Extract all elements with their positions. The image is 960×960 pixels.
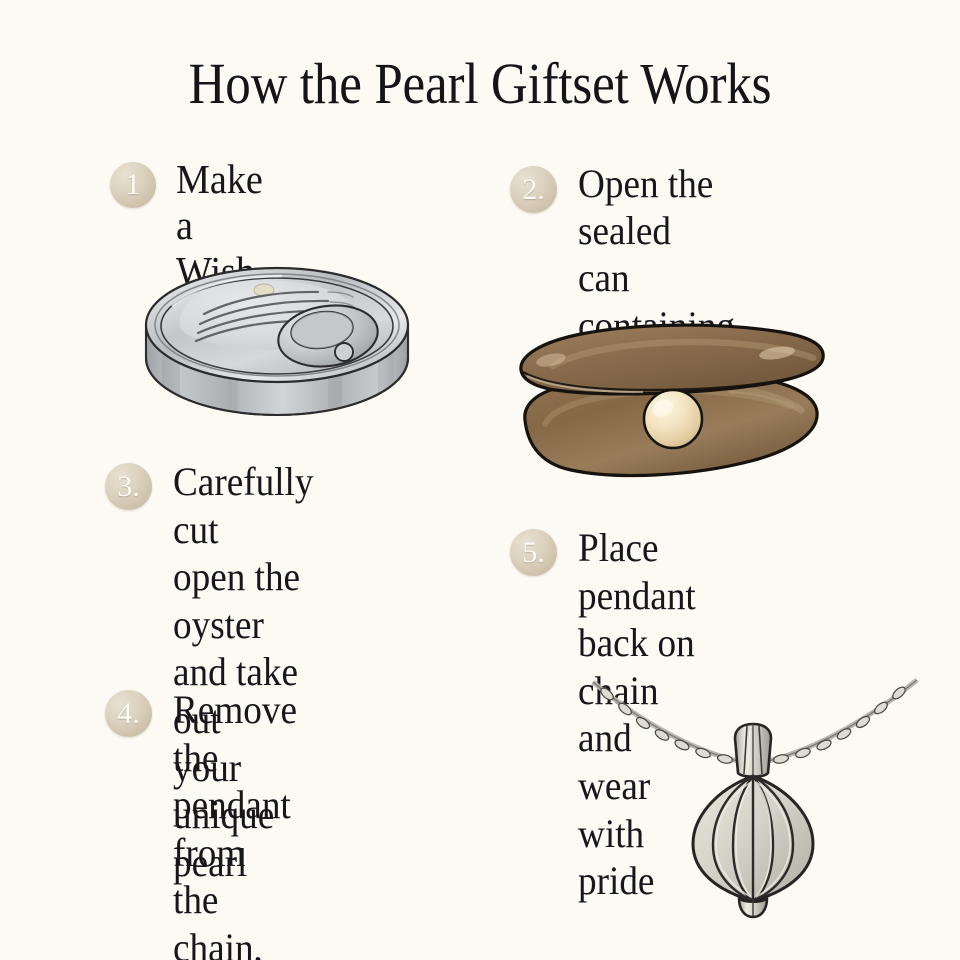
pendant-bail	[735, 724, 771, 777]
cage-pendant	[693, 776, 813, 917]
tin-can-illustration	[132, 240, 422, 435]
pearl	[644, 390, 702, 448]
step-label-4: Remove the pendant from the chain, open …	[173, 686, 297, 960]
oyster-illustration	[505, 320, 830, 485]
pull-tab-rivet	[335, 343, 353, 361]
step-badge-4: 4.	[105, 690, 152, 737]
step-badge-5: 5.	[510, 529, 557, 576]
pearl-giftset-infographic: How the Pearl Giftset Works 1 Make a Wis…	[0, 0, 960, 960]
page-title: How the Pearl Giftset Works	[58, 54, 903, 115]
necklace-illustration	[585, 668, 935, 920]
step-badge-2: 2.	[510, 166, 557, 213]
step-badge-3: 3.	[105, 463, 152, 510]
step-badge-1: 1	[110, 162, 156, 208]
